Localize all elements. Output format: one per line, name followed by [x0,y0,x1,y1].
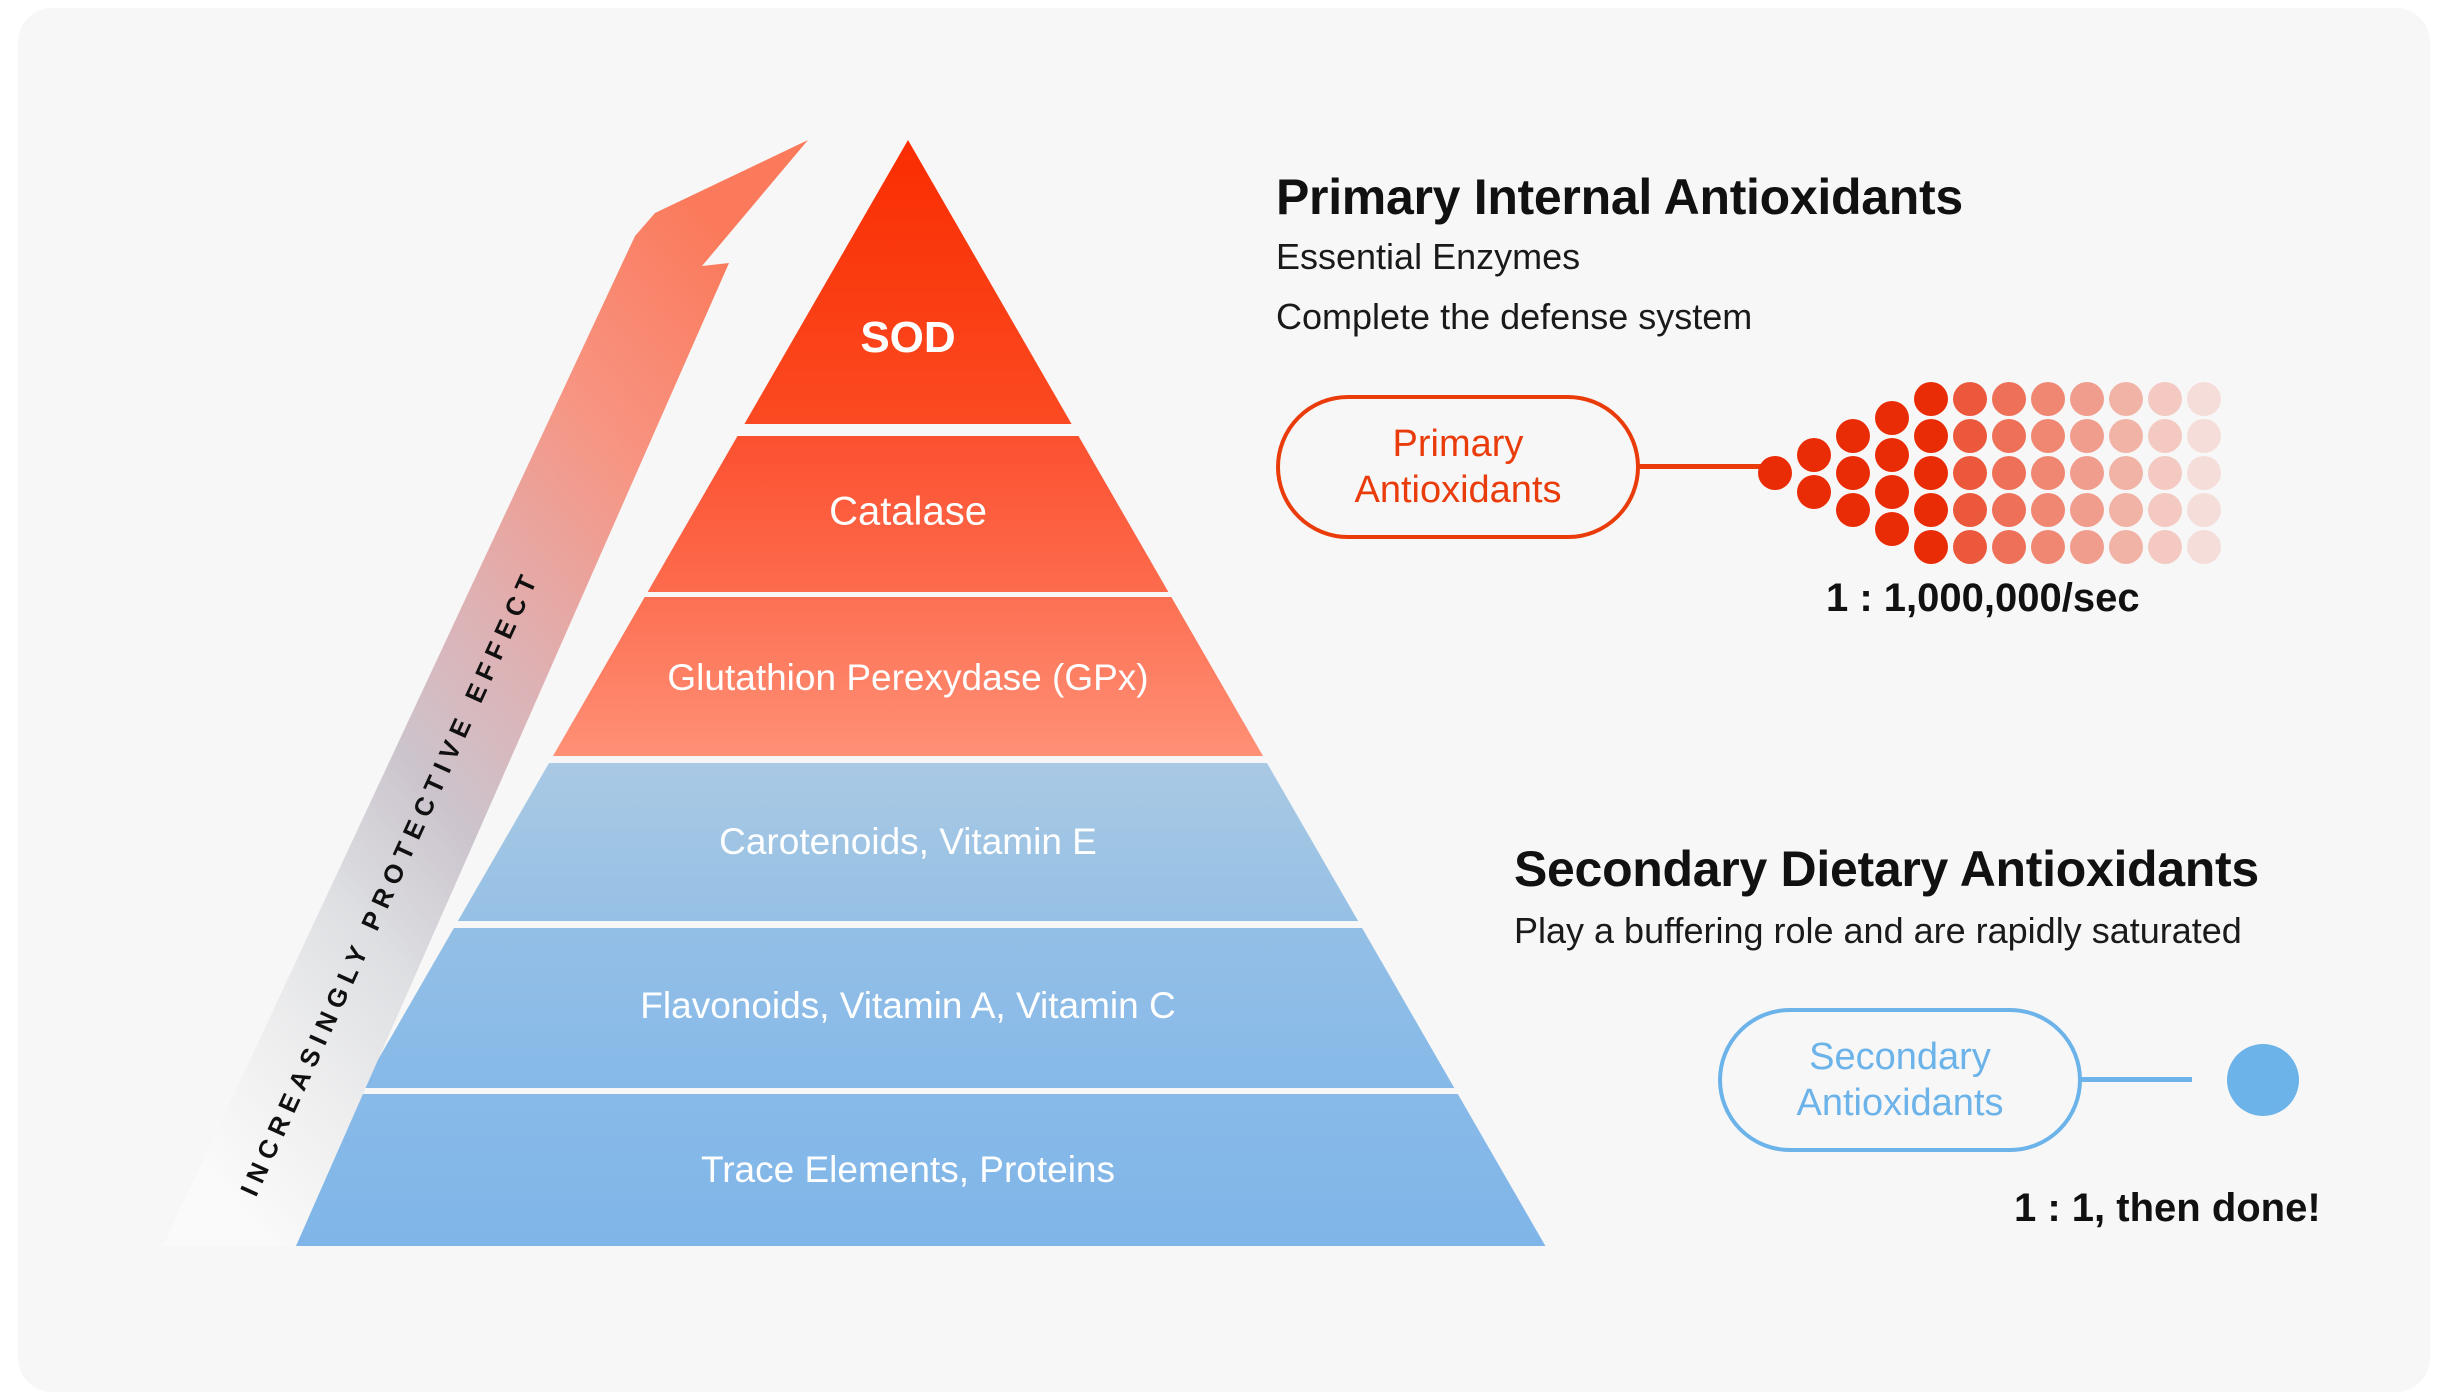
matrix-dot [1914,419,1948,453]
matrix-dot [2148,382,2182,416]
matrix-dot [2187,419,2221,453]
primary-subtitle-2: Complete the defense system [1276,296,1752,338]
primary-ratio-label: 1 : 1,000,000/sec [1826,576,2140,621]
matrix-dot [2031,530,2065,564]
matrix-dot [1914,530,1948,564]
primary-pill-line-2: Antioxidants [1354,467,1561,513]
infographic-card: SOD Catalase Glutathion Perexydase (GPx)… [18,8,2430,1392]
matrix-dot [1992,493,2026,527]
matrix-dot [2109,530,2143,564]
matrix-dot [1914,382,1948,416]
matrix-dot [1992,419,2026,453]
primary-subtitle-1: Essential Enzymes [1276,236,1580,278]
matrix-dot [2148,493,2182,527]
matrix-dot [1797,438,1831,472]
matrix-dot [2070,419,2104,453]
matrix-dot [2109,419,2143,453]
secondary-ratio-label: 1 : 1, then done! [2014,1186,2321,1231]
matrix-dot [1953,382,1987,416]
secondary-title: Secondary Dietary Antioxidants [1514,840,2259,898]
matrix-dot [1875,512,1909,546]
matrix-dot [1875,438,1909,472]
matrix-dot [2031,456,2065,490]
matrix-dot [2148,530,2182,564]
secondary-single-dot [2227,1044,2299,1116]
matrix-dot [2109,382,2143,416]
matrix-dot [1875,401,1909,435]
matrix-dot [1953,419,1987,453]
matrix-dot [2187,493,2221,527]
matrix-dot [1992,382,2026,416]
primary-dot-matrix [1758,358,2178,588]
primary-antioxidants-pill[interactable]: Primary Antioxidants [1276,395,1640,539]
matrix-dot [1797,475,1831,509]
matrix-dot [1836,456,1870,490]
secondary-subtitle-1: Play a buffering role and are rapidly sa… [1514,910,2242,952]
primary-pill-line-1: Primary [1354,421,1561,467]
matrix-dot [2070,493,2104,527]
secondary-connector-line [2080,1077,2192,1082]
matrix-dot [1953,456,1987,490]
matrix-dot [2148,419,2182,453]
matrix-dot [1875,475,1909,509]
secondary-pill-line-1: Secondary [1796,1034,2003,1080]
matrix-dot [1953,530,1987,564]
matrix-dot [2070,530,2104,564]
matrix-dot [1914,493,1948,527]
matrix-dot [2031,419,2065,453]
matrix-dot [2109,493,2143,527]
matrix-dot [2109,456,2143,490]
matrix-dot [2187,382,2221,416]
matrix-dot [1992,530,2026,564]
matrix-dot [1953,493,1987,527]
matrix-dot [1914,456,1948,490]
matrix-dot [1758,456,1792,490]
matrix-dot [2187,456,2221,490]
matrix-dot [2031,382,2065,416]
matrix-dot [2031,493,2065,527]
secondary-antioxidants-pill[interactable]: Secondary Antioxidants [1718,1008,2082,1152]
secondary-pill-line-2: Antioxidants [1796,1080,2003,1126]
primary-connector-line [1638,464,1764,469]
matrix-dot [2070,382,2104,416]
infographic-canvas: SOD Catalase Glutathion Perexydase (GPx)… [0,0,2448,1400]
matrix-dot [1836,419,1870,453]
matrix-dot [2070,456,2104,490]
matrix-dot [2148,456,2182,490]
matrix-dot [1992,456,2026,490]
primary-title: Primary Internal Antioxidants [1276,168,1963,226]
matrix-dot [2187,530,2221,564]
matrix-dot [1836,493,1870,527]
